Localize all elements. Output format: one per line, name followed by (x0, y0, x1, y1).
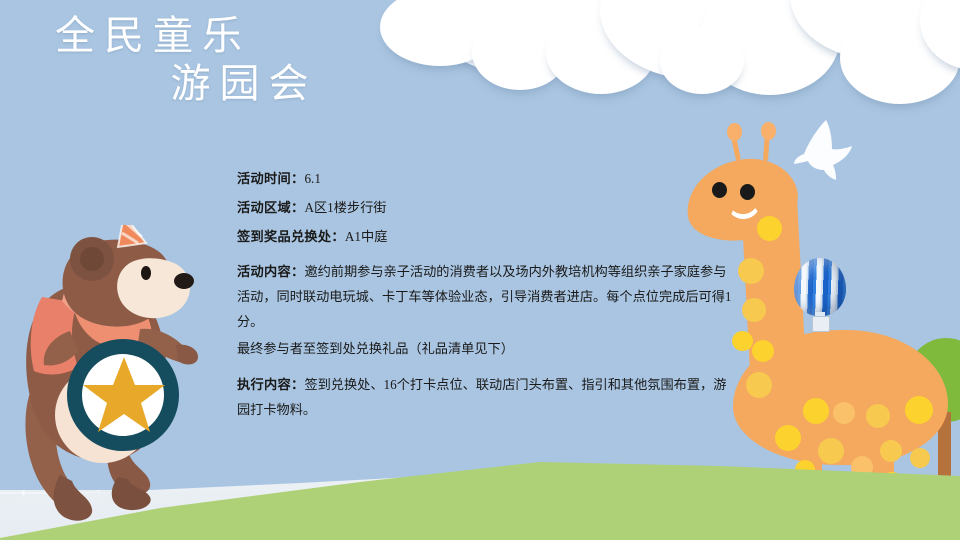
giraffe-spot (866, 404, 890, 428)
giraffe-spot (833, 402, 855, 424)
giraffe-spot (880, 440, 902, 462)
giraffe-spot (803, 398, 829, 424)
time-label: 活动时间： (237, 171, 304, 186)
giraffe-spot (905, 396, 933, 424)
redeem-value: A1中庭 (345, 229, 388, 244)
info-block: 活动时间：6.1 活动区域：A区1楼步行街 签到奖品兑换处：A1中庭 活动内容：… (237, 172, 737, 430)
giraffe-spot (742, 298, 766, 322)
giraffe-spot (746, 372, 772, 398)
info-row-redeem: 签到奖品兑换处：A1中庭 (237, 230, 737, 244)
activity-note-text: 最终参与者至签到处兑换礼品（礼品清单见下） (237, 341, 514, 356)
giraffe-spot (775, 425, 801, 451)
area-value: A区1楼步行街 (304, 200, 386, 215)
giraffe-spot (752, 340, 774, 362)
giraffe-spot (757, 216, 782, 241)
time-value: 6.1 (304, 171, 320, 186)
giraffe-spot (738, 258, 764, 284)
area-label: 活动区域： (237, 200, 304, 215)
giraffe-horn-tip (761, 122, 776, 140)
activity-value: 邀约前期参与亲子活动的消费者以及场内外教培机构等组织亲子家庭参与活动，同时联动电… (237, 264, 732, 329)
info-row-time: 活动时间：6.1 (237, 172, 737, 186)
info-row-activity-note: 最终参与者至签到处兑换礼品（礼品清单见下） (237, 342, 737, 356)
activity-label: 活动内容： (237, 264, 304, 279)
giraffe-spot (910, 448, 930, 468)
giraffe-eye (712, 182, 727, 198)
giraffe-spot (818, 438, 844, 464)
giraffe-horn-tip (727, 123, 742, 141)
poster-title: 全民童乐 游园会 (55, 12, 385, 108)
redeem-label: 签到奖品兑换处： (237, 229, 345, 244)
info-row-execution: 执行内容：签到兑换处、16个打卡点位、联动店门头布置、指引和其他氛围布置，游园打… (237, 372, 737, 422)
balloon-basket (812, 316, 830, 332)
title-line-1: 全民童乐 (55, 12, 385, 60)
title-line-2: 游园会 (55, 60, 385, 108)
badge-star-glyph (82, 353, 166, 437)
balloon-envelope (794, 258, 846, 316)
execution-value: 签到兑换处、16个打卡点位、联动店门头布置、指引和其他氛围布置，游园打卡物料。 (237, 377, 726, 417)
dove-icon (792, 118, 854, 182)
cloud-shape (660, 28, 744, 94)
execution-label: 执行内容： (237, 377, 304, 392)
giraffe-spot (732, 331, 753, 351)
poster-canvas: 全民童乐 游园会 活动时间：6.1 活动区域：A区1楼步行街 签到奖品兑换处：A… (0, 0, 960, 540)
info-row-activity: 活动内容：邀约前期参与亲子活动的消费者以及场内外教培机构等组织亲子家庭参与活动，… (237, 259, 737, 334)
info-row-area: 活动区域：A区1楼步行街 (237, 201, 737, 215)
